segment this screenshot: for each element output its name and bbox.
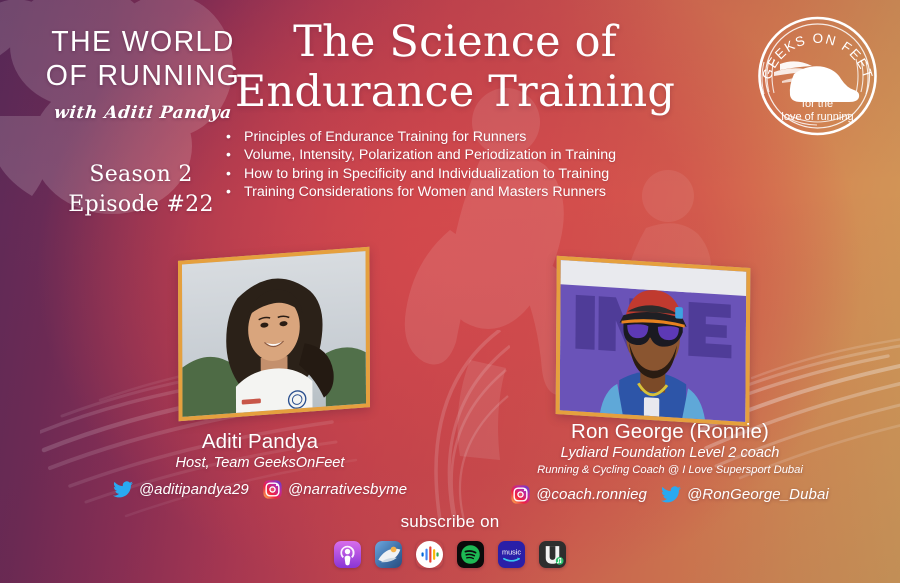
apple-podcasts-icon[interactable] <box>334 541 361 568</box>
episode-topics-list: Principles of Endurance Training for Run… <box>222 128 722 201</box>
jiosaavn-icon[interactable] <box>539 541 566 568</box>
person-name: Ron George (Ronnie) <box>455 419 885 444</box>
episode-label: Episode #22 <box>30 190 252 220</box>
google-podcasts-icon[interactable] <box>416 541 443 568</box>
twitter-icon[interactable] <box>113 481 133 498</box>
social-handle-text[interactable]: @RonGeorge_Dubai <box>687 486 829 503</box>
page-title: The Science of Endurance Training <box>190 18 720 118</box>
list-item: How to bring in Specificity and Individu… <box>222 165 722 183</box>
avatar <box>556 256 751 426</box>
social-handle-instagram[interactable]: @coach.ronnieg <box>511 485 647 504</box>
episode-title-line-2: Endurance Training <box>190 68 720 118</box>
season-label: Season 2 <box>30 160 252 190</box>
platform-icons: music <box>0 541 900 568</box>
overcast-podcasts-icon[interactable] <box>375 541 402 568</box>
person-info-aditi: Aditi Pandya Host, Team GeeksOnFeet @adi… <box>60 429 460 499</box>
photo-aditi-pandya <box>182 251 366 417</box>
social-handle-twitter[interactable]: @aditipandya29 <box>113 481 249 498</box>
geeks-on-feet-logo: GEEKS ON FEET for the love of running <box>750 10 885 142</box>
social-handles: @aditipandya29 @narrativesb <box>60 480 460 499</box>
instagram-icon[interactable] <box>263 480 282 499</box>
social-handles: @coach.ronnieg @RonGeorge_Dubai <box>455 485 885 504</box>
list-item: Training Considerations for Women and Ma… <box>222 183 722 201</box>
subscribe-section: subscribe on <box>0 512 900 568</box>
person-role: Host, Team GeeksOnFeet <box>60 454 460 473</box>
episode-title-line-1: The Science of <box>190 18 720 68</box>
amazon-music-icon[interactable]: music <box>498 541 525 568</box>
svg-text:music: music <box>502 548 521 557</box>
podcast-promo-poster: THE WORLD OF RUNNING with Aditi Pandya S… <box>0 0 900 583</box>
spotify-icon[interactable] <box>457 541 484 568</box>
person-role: Lydiard Foundation Level 2 coach <box>455 444 885 463</box>
subscribe-label: subscribe on <box>0 512 900 532</box>
instagram-icon[interactable] <box>511 485 530 504</box>
winged-shoe-icon <box>774 61 859 102</box>
social-handle-twitter[interactable]: @RonGeorge_Dubai <box>661 486 829 503</box>
person-name: Aditi Pandya <box>60 429 460 454</box>
season-episode-block: Season 2 Episode #22 <box>30 160 252 219</box>
list-item: Volume, Intensity, Polarization and Peri… <box>222 146 722 164</box>
badge-sub-line-1: for the <box>802 98 833 110</box>
social-handle-instagram[interactable]: @narrativesbyme <box>263 480 407 499</box>
person-info-ron: Ron George (Ronnie) Lydiard Foundation L… <box>455 419 885 504</box>
avatar <box>178 247 370 421</box>
badge-sub-line-2: love of running <box>781 111 853 123</box>
social-handle-text[interactable]: @narrativesbyme <box>288 481 407 498</box>
twitter-icon[interactable] <box>661 486 681 503</box>
person-role-secondary: Running & Cycling Coach @ I Love Supersp… <box>455 463 885 478</box>
social-handle-text[interactable]: @aditipandya29 <box>139 481 249 498</box>
list-item: Principles of Endurance Training for Run… <box>222 128 722 146</box>
photo-ron-george <box>560 260 747 422</box>
social-handle-text[interactable]: @coach.ronnieg <box>536 486 647 503</box>
